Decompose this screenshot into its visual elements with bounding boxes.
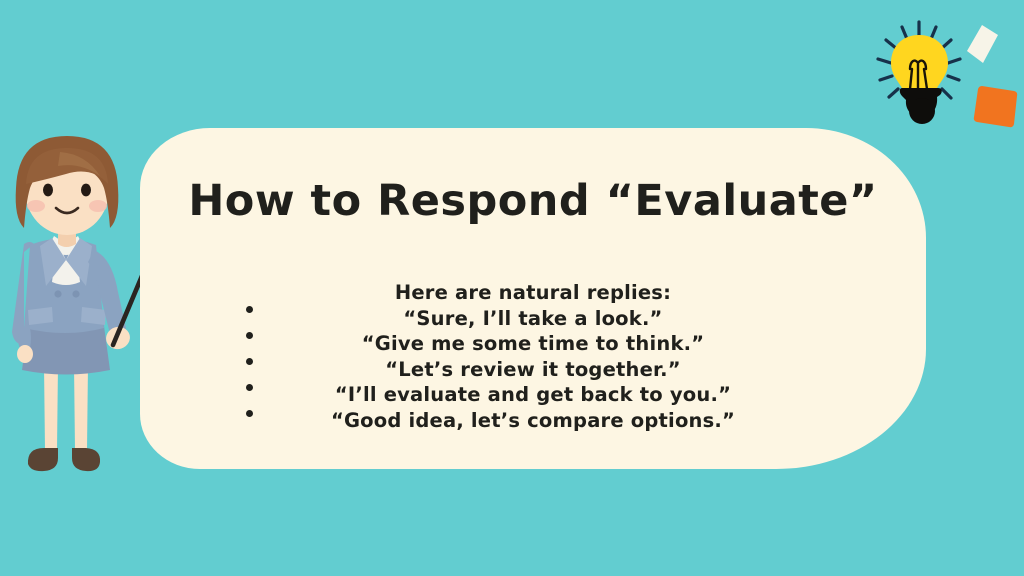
reply-item: “Sure, I’ll take a look.”	[140, 306, 926, 332]
reply-item: “I’ll evaluate and get back to you.”	[140, 382, 926, 408]
reply-item: “Let’s review it together.”	[140, 357, 926, 383]
content-card: How to Respond “Evaluate” Here are natur…	[140, 128, 926, 469]
reply-list: Here are natural replies: “Sure, I’ll ta…	[140, 280, 926, 434]
page-title: How to Respond “Evaluate”	[140, 176, 926, 226]
slide-canvas: How to Respond “Evaluate” Here are natur…	[0, 0, 1024, 576]
reply-item: “Give me some time to think.”	[140, 331, 926, 357]
orange-parallelogram-shape	[972, 84, 1020, 130]
white-diamond-shape	[965, 24, 999, 64]
reply-item: “Good idea, let’s compare options.”	[140, 408, 926, 434]
reply-intro: Here are natural replies:	[140, 280, 926, 306]
lightbulb-icon	[866, 14, 976, 134]
